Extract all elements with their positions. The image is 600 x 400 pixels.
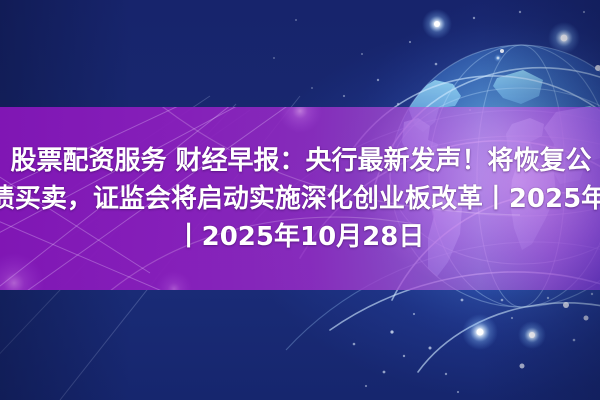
purple-overlay-band [0,107,600,290]
news-banner: 股票配资服务 财经早报：央行最新发声！将恢复公 债买卖，证监会将启动实施深化创业… [0,0,600,400]
